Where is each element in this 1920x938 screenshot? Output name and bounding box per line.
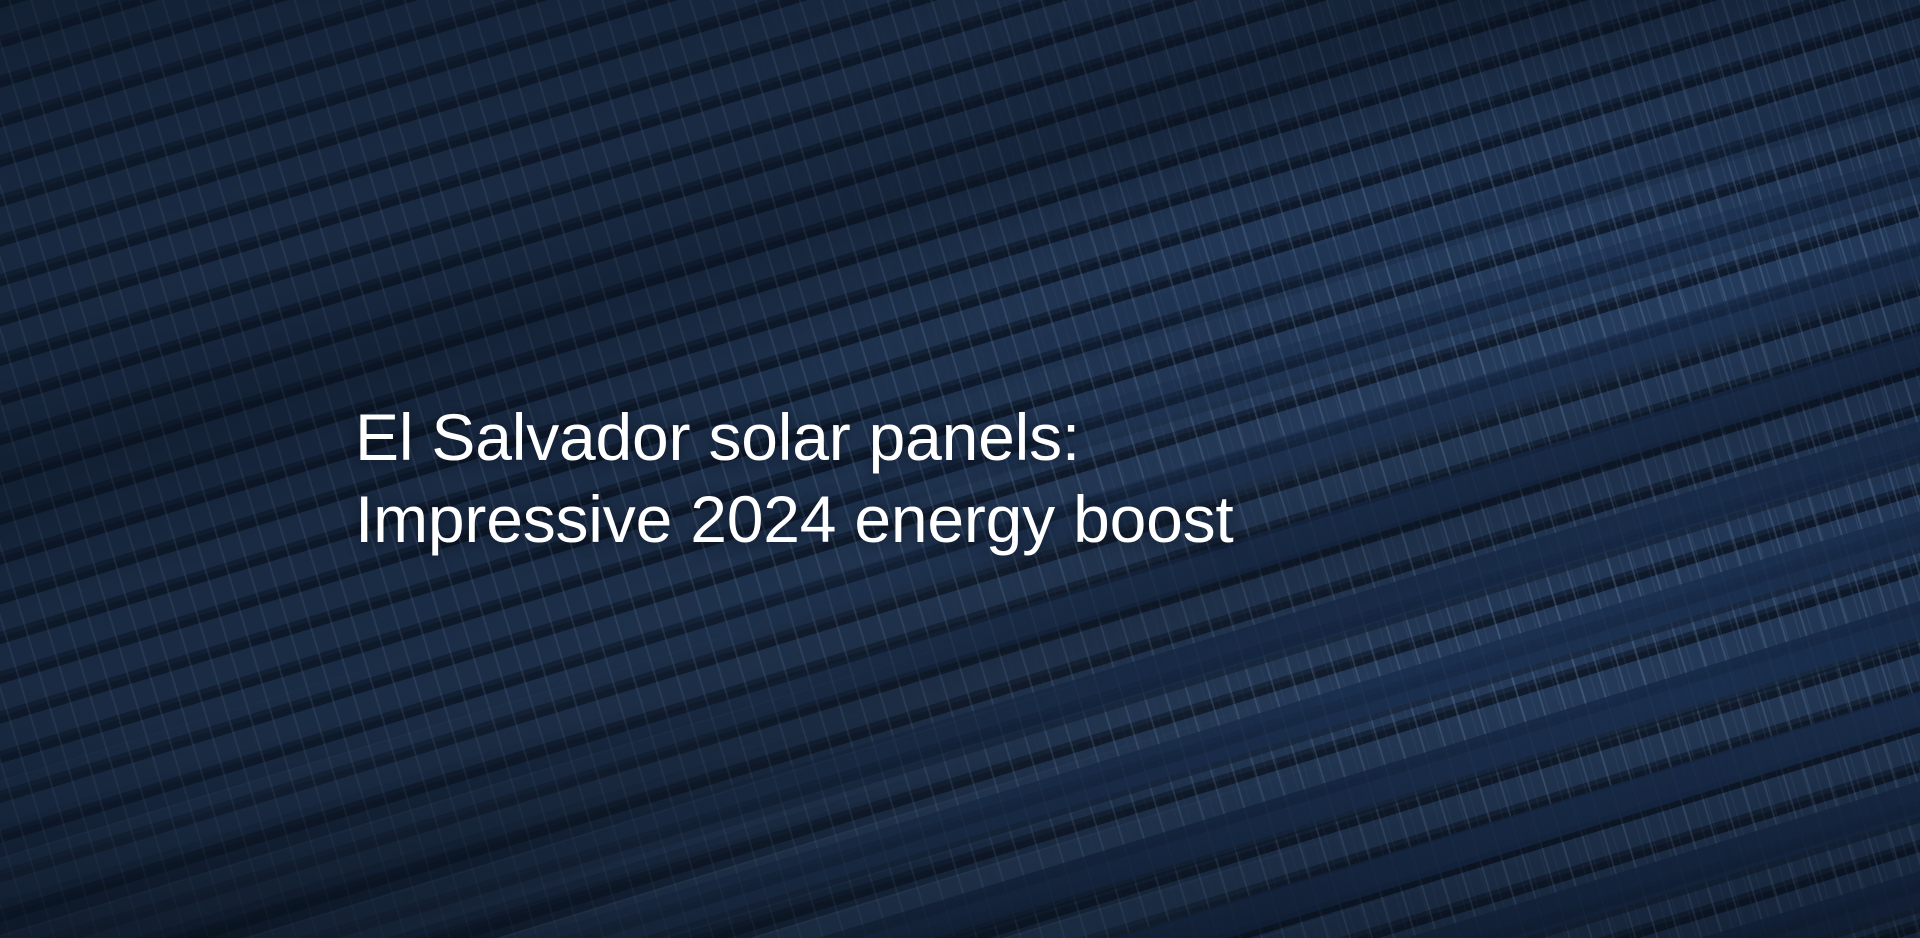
hero-headline: El Salvador solar panels: Impressive 202… <box>355 396 1234 560</box>
hero-banner: El Salvador solar panels: Impressive 202… <box>0 0 1920 938</box>
